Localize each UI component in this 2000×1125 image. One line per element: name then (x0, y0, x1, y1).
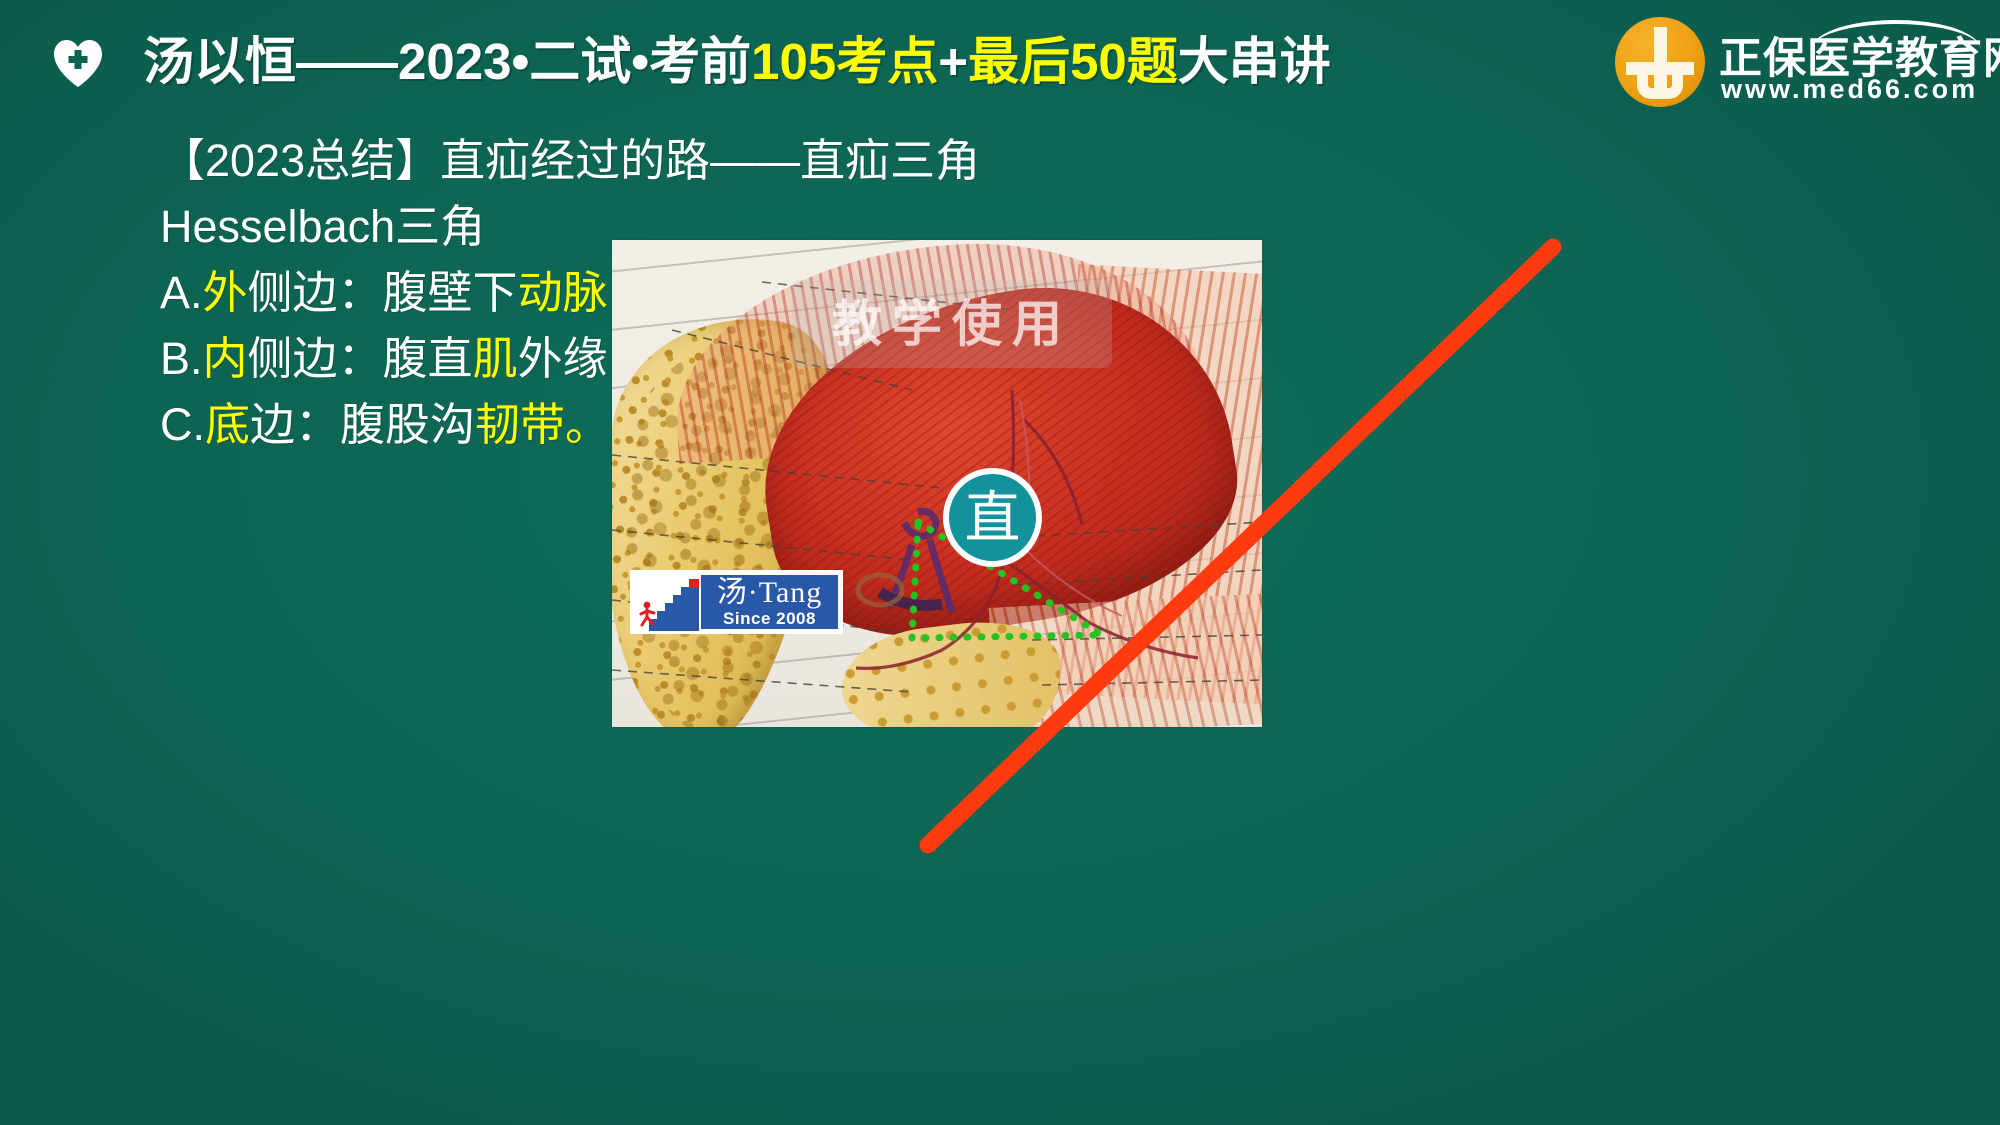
line-c-seg-0: C. (160, 399, 205, 450)
line-c-seg-2: 边：腹股沟 (250, 399, 475, 450)
line-b-seg-1: 内 (203, 333, 248, 384)
heart-with-cross-icon (52, 38, 104, 88)
status-badge-zhi: 直 (943, 468, 1042, 567)
title-segment-4: 大串讲 (1178, 33, 1331, 90)
tang-logo-name: 汤·Tang (701, 576, 838, 610)
line-b-seg-2: 侧边：腹直 (248, 333, 473, 384)
cross-bowl-shape (1637, 69, 1683, 99)
title-segment-0: 汤以恒——2023•二试•考前 (143, 33, 751, 90)
tang-logo-name-panel: 汤·Tang Since 2008 (699, 573, 840, 631)
line-a-seg-3: 动脉 (518, 267, 608, 318)
hesselbach-triangle-marker (612, 240, 1262, 727)
line-b-seg-0: B. (160, 333, 203, 384)
title-segment-2: + (938, 33, 968, 90)
line-b-seg-3: 肌 (473, 333, 518, 384)
line-c-seg-1: 底 (205, 399, 250, 450)
page-title: 汤以恒——2023•二试•考前105考点+最后50题大串讲 (143, 26, 1331, 98)
running-figure-icon (638, 601, 658, 627)
title-segment-3: 最后50题 (968, 33, 1178, 90)
slide-root: 汤以恒——2023•二试•考前105考点+最后50题大串讲 正保医学教育网 ww… (0, 0, 2000, 1125)
line-c-seg-3: 韧带。 (475, 399, 610, 450)
brand-url: www.med66.com (1721, 74, 1978, 105)
brand-logo: 正保医学教育网 www.med66.com (1615, 14, 1975, 110)
line-a-seg-1: 外 (203, 267, 248, 318)
slide-header: 汤以恒——2023•二试•考前105考点+最后50题大串讲 正保医学教育网 ww… (0, 0, 2000, 126)
line-a-seg-2: 侧边：腹壁下 (248, 267, 518, 318)
tang-watermark-logo: 汤·Tang Since 2008 (630, 570, 843, 634)
title-segment-1: 105考点 (751, 33, 938, 90)
line-hesselbach-seg-0: Hesselbach三角 (160, 201, 485, 252)
content-line-title: 【2023总结】直疝经过的路——直疝三角 (160, 128, 1040, 194)
anatomy-illustration: 教学使用 (612, 240, 1262, 727)
line-a-seg-0: A. (160, 267, 203, 318)
line-title-seg-0: 【2023总结】直疝经过的路——直疝三角 (160, 135, 980, 186)
tang-logo-since: Since 2008 (701, 609, 838, 629)
tang-logo-stairs-panel (633, 573, 699, 631)
orange-cross-circle-icon (1615, 17, 1705, 107)
